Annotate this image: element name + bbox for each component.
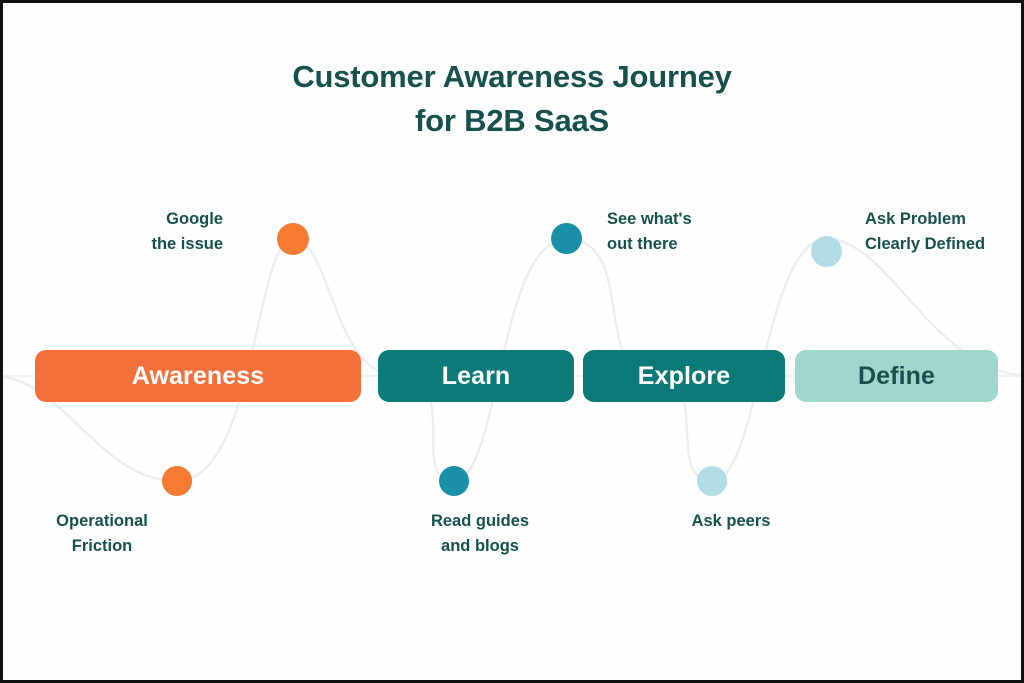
- stage-bar-label: Awareness: [132, 362, 264, 391]
- milestone-caption-operational-friction: Operational Friction: [21, 509, 183, 559]
- milestone-caption-read-guides-and-blogs: Read guides and blogs: [399, 509, 561, 559]
- title-line-1: Customer Awareness Journey: [3, 55, 1021, 99]
- milestone-dot-operational-friction[interactable]: [162, 466, 192, 496]
- diagram-canvas: Customer Awareness Journey for B2B SaaS …: [0, 0, 1024, 683]
- milestone-caption-ask-problem-clearly-defined: Ask Problem Clearly Defined: [865, 207, 1015, 257]
- title-line-2: for B2B SaaS: [3, 99, 1021, 143]
- stage-bar-label: Learn: [442, 362, 511, 391]
- stage-bar-define[interactable]: Define: [795, 350, 998, 402]
- milestone-dot-ask-problem-clearly-defined[interactable]: [811, 236, 842, 267]
- stage-bar-learn[interactable]: Learn: [378, 350, 574, 402]
- milestone-caption-google-the-issue: Google the issue: [58, 207, 223, 257]
- diagram-inner-frame: Customer Awareness Journey for B2B SaaS …: [3, 3, 1021, 680]
- page-title: Customer Awareness Journey for B2B SaaS: [3, 55, 1021, 143]
- stage-bar-awareness[interactable]: Awareness: [35, 350, 361, 402]
- stage-bar-label: Explore: [638, 362, 730, 391]
- milestone-dot-ask-peers[interactable]: [697, 466, 727, 496]
- stage-bar-explore[interactable]: Explore: [583, 350, 785, 402]
- milestone-dot-read-guides-and-blogs[interactable]: [439, 466, 469, 496]
- stage-bar-label: Define: [858, 362, 935, 391]
- milestone-caption-see-what-s-out-there: See what's out there: [607, 207, 767, 257]
- milestone-dot-see-what-s-out-there[interactable]: [551, 223, 582, 254]
- milestone-caption-ask-peers: Ask peers: [650, 509, 812, 534]
- milestone-dot-google-the-issue[interactable]: [277, 223, 309, 255]
